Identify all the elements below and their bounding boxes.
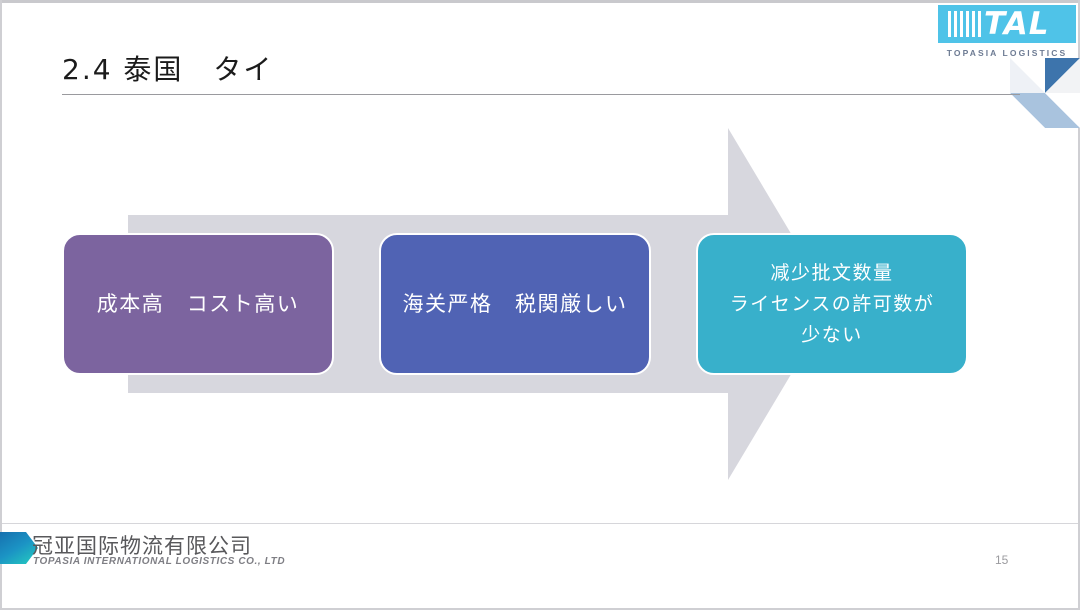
license-box-line-1: 减少批文数量 xyxy=(730,258,935,289)
license-box-line-3: 少ない xyxy=(730,320,935,351)
cost-box-text: 成本高 コスト高い xyxy=(97,287,300,321)
customs-box-text: 海关严格 税関厳しい xyxy=(403,287,628,321)
process-boxes: 成本高 コスト高い 海关严格 税関厳しい 减少批文数量 ライセンスの許可数が 少… xyxy=(0,0,1080,610)
page-number: 15 xyxy=(995,553,1008,567)
license-box[interactable]: 减少批文数量 ライセンスの許可数が 少ない xyxy=(696,233,968,375)
license-box-text: 减少批文数量 ライセンスの許可数が 少ない xyxy=(730,258,935,351)
customs-box[interactable]: 海关严格 税関厳しい xyxy=(379,233,651,375)
footer-divider xyxy=(2,523,1078,524)
cost-box[interactable]: 成本高 コスト高い xyxy=(62,233,334,375)
license-box-line-2: ライセンスの許可数が xyxy=(730,289,935,320)
cost-box-line-1: 成本高 コスト高い xyxy=(97,287,300,321)
customs-box-line-1: 海关严格 税関厳しい xyxy=(403,287,628,321)
slide-canvas: TAL TOPASIA LOGISTICS 2.4 泰国 タイ 成本高 コスト高… xyxy=(0,0,1080,610)
footer-company-en: TOPASIA INTERNATIONAL LOGISTICS CO., LTD xyxy=(33,556,285,567)
